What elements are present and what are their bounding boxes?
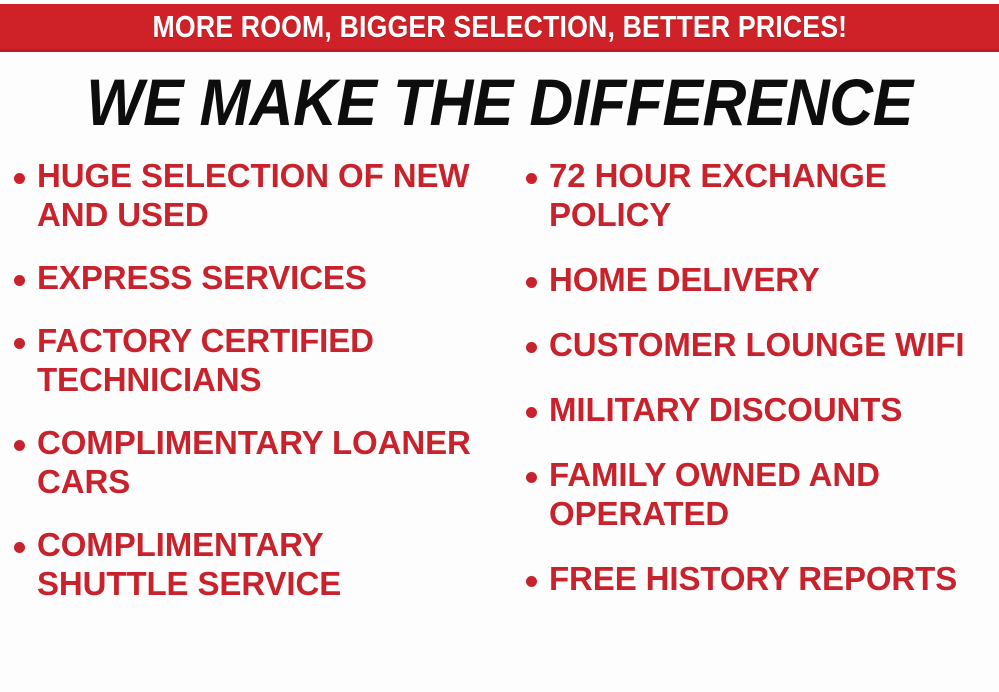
list-item: EXPRESS SERVICES [14,258,510,297]
list-item-label: FAMILY OWNED AND OPERATED [549,455,989,533]
top-banner: MORE ROOM, BIGGER SELECTION, BETTER PRIC… [0,4,999,52]
list-item-label: FREE HISTORY REPORTS [549,559,957,598]
list-item: COMPLIMENTARY LOANER CARS [14,423,510,501]
bullet-dot-icon [526,173,537,184]
list-item-label: MILITARY DISCOUNTS [549,390,902,429]
banner-headline-text: MORE ROOM, BIGGER SELECTION, BETTER PRIC… [152,11,847,42]
bullet-dot-icon [14,542,25,553]
list-item: FAMILY OWNED AND OPERATED [526,455,999,533]
list-item: HOME DELIVERY [526,260,999,299]
list-item-label: COMPLIMENTARY SHUTTLE SERVICE [37,525,481,603]
bullet-dot-icon [526,342,537,353]
list-item: FREE HISTORY REPORTS [526,559,999,598]
list-item: HUGE SELECTION OF NEW AND USED [14,156,510,234]
page-title: WE MAKE THE DIFFERENCE [40,66,959,138]
bullet-dot-icon [526,576,537,587]
list-item-label: COMPLIMENTARY LOANER CARS [37,423,481,501]
list-item-label: HUGE SELECTION OF NEW AND USED [37,156,481,234]
benefits-column-right: 72 HOUR EXCHANGE POLICY HOME DELIVERY CU… [510,156,999,624]
list-item: FACTORY CERTIFIED TECHNICIANS [14,321,510,399]
bullet-dot-icon [14,338,25,349]
list-item: 72 HOUR EXCHANGE POLICY [526,156,999,234]
list-item: MILITARY DISCOUNTS [526,390,999,429]
list-item-label: FACTORY CERTIFIED TECHNICIANS [37,321,481,399]
list-item-label: 72 HOUR EXCHANGE POLICY [549,156,989,234]
promo-poster: MORE ROOM, BIGGER SELECTION, BETTER PRIC… [0,0,999,692]
list-item: COMPLIMENTARY SHUTTLE SERVICE [14,525,510,603]
list-item-label: EXPRESS SERVICES [37,258,367,297]
benefits-columns: HUGE SELECTION OF NEW AND USED EXPRESS S… [0,156,999,692]
bullet-dot-icon [526,407,537,418]
list-item: CUSTOMER LOUNGE WIFI [526,325,999,364]
bullet-dot-icon [526,277,537,288]
bullet-dot-icon [14,275,25,286]
list-item-label: CUSTOMER LOUNGE WIFI [549,325,964,364]
bullet-dot-icon [526,472,537,483]
bullet-dot-icon [14,440,25,451]
list-item-label: HOME DELIVERY [549,260,820,299]
bullet-dot-icon [14,173,25,184]
benefits-column-left: HUGE SELECTION OF NEW AND USED EXPRESS S… [0,156,510,627]
